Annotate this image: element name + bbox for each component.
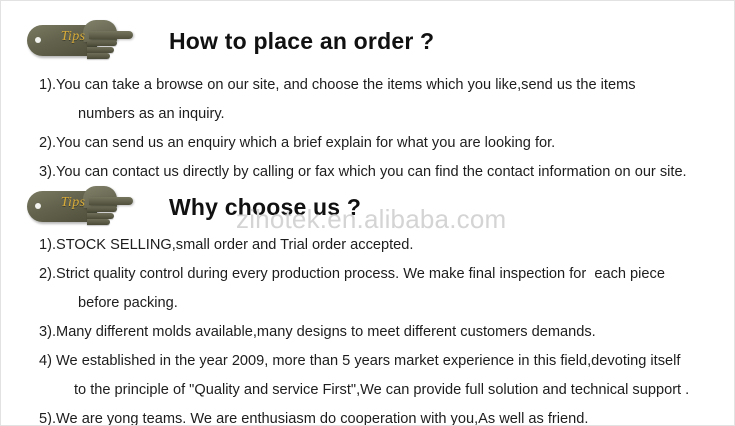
promo-info-panel: Tips How to place an order ? 1). You can…	[0, 0, 735, 426]
how-to-order-list: 1). You can take a browse on our site, a…	[1, 71, 734, 187]
list-item-line-2: to the principle of "Quality and service…	[52, 376, 726, 405]
list-item-text: You can contact us directly by calling o…	[56, 158, 726, 187]
list-item: 3). Many different molds available,many …	[1, 318, 734, 347]
list-item-marker: 2).	[39, 260, 56, 318]
list-item-line-1: You can send us an enquiry which a brief…	[56, 135, 555, 151]
tips-badge-label: Tips	[49, 29, 97, 45]
list-item: 2). You can send us an enquiry which a b…	[1, 129, 734, 158]
list-item: 1). STOCK SELLING,small order and Trial …	[1, 231, 734, 260]
tips-badge-label: Tips	[49, 195, 97, 211]
tips-pointing-hand-icon: Tips	[27, 185, 135, 229]
section-header-why-choose-us: Tips Why choose us ?	[27, 185, 361, 229]
hand-finger-curl-3	[87, 53, 110, 59]
list-item-line-2: before packing.	[56, 289, 726, 318]
list-item-marker: 3).	[39, 158, 56, 187]
tips-tag-hole	[35, 37, 41, 43]
list-item-line-1: STOCK SELLING,small order and Trial orde…	[56, 237, 413, 253]
list-item-line-1: Many different molds available,many desi…	[56, 324, 596, 340]
hand-finger-curl-3	[87, 219, 110, 225]
why-choose-us-list: 1). STOCK SELLING,small order and Trial …	[1, 231, 734, 426]
list-item: 1). You can take a browse on our site, a…	[1, 71, 734, 129]
list-item-marker: 5).	[39, 405, 56, 426]
list-item-text: You can send us an enquiry which a brief…	[56, 129, 726, 158]
list-item: 4) We established in the year 2009, more…	[1, 347, 734, 405]
list-item: 3). You can contact us directly by calli…	[1, 158, 734, 187]
list-item-line-1: Strict quality control during every prod…	[56, 266, 665, 282]
list-item-marker: 3).	[39, 318, 56, 347]
list-item-line-1: You can take a browse on our site, and c…	[56, 77, 636, 93]
list-item: 5). We are yong teams. We are enthusiasm…	[1, 405, 734, 426]
list-item-text: Many different molds available,many desi…	[56, 318, 726, 347]
list-item-line-1: We established in the year 2009, more th…	[52, 353, 680, 369]
list-item-marker: 1).	[39, 231, 56, 260]
list-item-text: STOCK SELLING,small order and Trial orde…	[56, 231, 726, 260]
page-title-how-to-order: How to place an order ?	[169, 28, 434, 55]
list-item-text: Strict quality control during every prod…	[56, 260, 726, 318]
page-title-why-choose-us: Why choose us ?	[169, 194, 361, 221]
list-item-text: We are yong teams. We are enthusiasm do …	[56, 405, 726, 426]
list-item: 2). Strict quality control during every …	[1, 260, 734, 318]
list-item-text: You can take a browse on our site, and c…	[56, 71, 726, 129]
list-item-marker: 4)	[39, 347, 52, 405]
list-item-marker: 2).	[39, 129, 56, 158]
list-item-marker: 1).	[39, 71, 56, 129]
list-item-line-2: numbers as an inquiry.	[56, 100, 726, 129]
tips-tag-hole	[35, 203, 41, 209]
list-item-text: We established in the year 2009, more th…	[52, 347, 726, 405]
tips-pointing-hand-icon: Tips	[27, 19, 135, 63]
list-item-line-1: You can contact us directly by calling o…	[56, 164, 687, 180]
list-item-line-1: We are yong teams. We are enthusiasm do …	[56, 411, 588, 426]
section-header-how-to-order: Tips How to place an order ?	[27, 19, 434, 63]
